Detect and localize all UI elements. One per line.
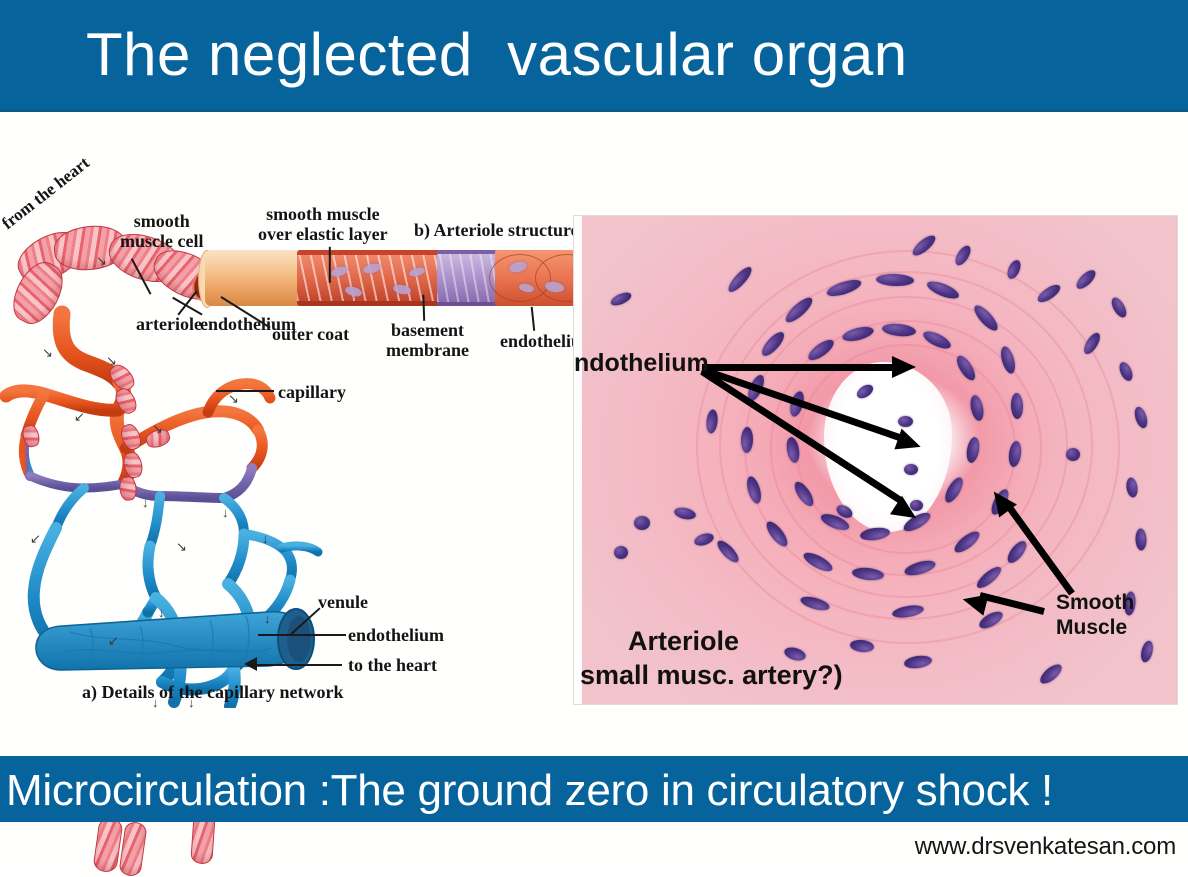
venule-muscle-ring: [118, 821, 147, 877]
flow-arrow: ↓: [264, 612, 271, 625]
label-outer-coat: outer coat: [272, 324, 349, 344]
cell-nucleus: [634, 516, 650, 530]
cell-nucleus: [1005, 258, 1023, 281]
flow-arrow: ↘: [96, 254, 107, 267]
site-url: www.drsvenkatesan.com: [915, 833, 1176, 861]
cell-nucleus: [609, 290, 633, 308]
flow-arrow: ↘: [106, 354, 117, 367]
arteriole-histology-photo: ndothelium Smooth Muscle Arteriole small…: [573, 215, 1178, 705]
photo-left-margin: [574, 216, 582, 705]
leader-smooth-muscle-over-elastic: [329, 247, 331, 283]
endothelium-arrow-1-line: [702, 364, 898, 371]
flow-arrow: ↓: [262, 532, 269, 545]
label-venule: venule: [318, 592, 368, 612]
cell-nucleus: [673, 506, 697, 521]
leader-capillary: [216, 390, 274, 392]
cell-nucleus: [1109, 295, 1130, 320]
cell-nucleus: [1117, 360, 1135, 383]
leader-endothelium-venule: [258, 634, 346, 636]
flow-arrow: ↙: [30, 532, 41, 545]
label-arteriole: arteriole: [136, 314, 202, 334]
flow-arrow: ↓: [158, 606, 165, 619]
flow-arrow: ↘: [152, 422, 163, 435]
page-title: The neglected vascular organ: [86, 19, 908, 91]
label-endothelium-venule: endothelium: [348, 625, 444, 645]
flow-arrow: ↙: [108, 634, 119, 647]
flow-arrow: ↘: [228, 392, 239, 405]
cell-nucleus: [1037, 661, 1065, 687]
label-basement-membrane: basement membrane: [386, 320, 469, 360]
flow-arrow: ↙: [74, 410, 85, 423]
label-smooth-muscle-cell: smooth muscle cell: [120, 211, 203, 251]
flow-arrow: ↓: [142, 496, 149, 509]
flow-arrow: ↘: [42, 346, 53, 359]
histology-label-subtitle: small musc. artery?): [580, 660, 843, 690]
leader-to-the-heart-arrowhead: [244, 657, 257, 671]
cell-nucleus: [898, 416, 913, 427]
title-banner: The neglected vascular organ: [0, 0, 1188, 112]
endothelium-arrow-1-head: [892, 356, 916, 378]
cell-nucleus: [1066, 448, 1080, 461]
cell-nucleus: [693, 531, 715, 548]
tube-segment-smooth-muscle: [297, 250, 442, 306]
cell-nucleus: [1139, 639, 1155, 663]
cell-nucleus: [903, 654, 932, 670]
cell-nucleus: [1074, 267, 1099, 292]
arteriole-structure-tube: [205, 244, 555, 312]
histology-label-endothelium: ndothelium: [574, 349, 709, 377]
label-to-the-heart: to the heart: [348, 655, 437, 675]
flow-arrow: ↘: [176, 540, 187, 553]
cell-nucleus: [725, 264, 755, 295]
cell-nucleus: [614, 546, 628, 559]
leader-to-the-heart: [256, 664, 342, 666]
cell-nucleus: [904, 464, 918, 475]
histology-label-arteriole: Arteriole: [628, 626, 739, 656]
footer-caption: Microcirculation :The ground zero in cir…: [6, 767, 1053, 815]
caption-capillary-network: a) Details of the capillary network: [82, 682, 343, 702]
histology-label-smooth-muscle: Smooth Muscle: [1056, 590, 1134, 640]
label-smooth-muscle-over-elastic: smooth muscle over elastic layer: [258, 204, 388, 244]
cell-nucleus: [1132, 405, 1149, 429]
label-capillary: capillary: [278, 382, 346, 402]
label-arteriole-structure-caption: b) Arteriole structure: [414, 220, 579, 240]
flow-arrow: ↓: [222, 506, 229, 519]
capillary-network-diagram: ↘ ↘ ↘ ↘ ↘ ↙ ↓ ↓ ↙ ↘ ↓ ↓ ↓ ↙ ↓ ↓ from: [0, 196, 560, 708]
cell-nucleus: [1125, 477, 1139, 498]
cell-nucleus: [1135, 528, 1147, 550]
